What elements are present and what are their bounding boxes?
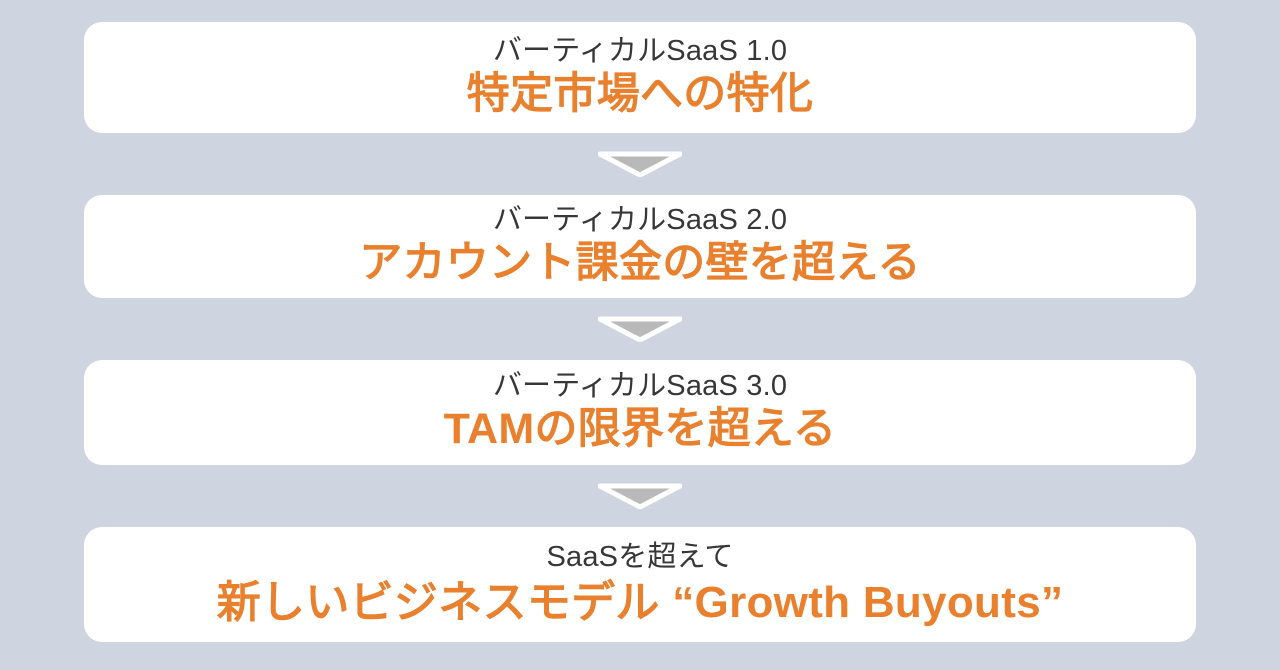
flow-step-headline-4: 新しいビジネスモデル “Growth Buyouts” [217, 577, 1064, 628]
chevron-down-icon [598, 151, 682, 177]
flow-step-eyebrow-2: バーティカルSaaS 2.0 [493, 204, 787, 236]
flow-step-eyebrow-4: SaaSを超えて [546, 541, 733, 573]
flow-step-eyebrow-1: バーティカルSaaS 1.0 [493, 35, 787, 67]
chevron-down-icon [598, 316, 682, 342]
flow-connector-2 [84, 298, 1196, 360]
flow-step-headline-3: TAMの限界を超える [444, 405, 837, 455]
flow-step-card-1: バーティカルSaaS 1.0 特定市場への特化 [84, 22, 1196, 133]
evolution-flow-diagram: バーティカルSaaS 1.0 特定市場への特化 バーティカルSaaS 2.0 ア… [84, 22, 1196, 642]
chevron-down-icon [598, 483, 682, 509]
flow-connector-1 [84, 133, 1196, 195]
slide-canvas: バーティカルSaaS 1.0 特定市場への特化 バーティカルSaaS 2.0 ア… [0, 0, 1280, 670]
flow-step-eyebrow-3: バーティカルSaaS 3.0 [493, 370, 787, 402]
flow-step-headline-2: アカウント課金の壁を超える [359, 239, 921, 289]
flow-step-card-3: バーティカルSaaS 3.0 TAMの限界を超える [84, 360, 1196, 465]
flow-connector-3 [84, 465, 1196, 527]
flow-step-card-2: バーティカルSaaS 2.0 アカウント課金の壁を超える [84, 195, 1196, 297]
flow-step-card-4: SaaSを超えて 新しいビジネスモデル “Growth Buyouts” [84, 527, 1196, 642]
flow-step-headline-1: 特定市場への特化 [467, 70, 813, 120]
